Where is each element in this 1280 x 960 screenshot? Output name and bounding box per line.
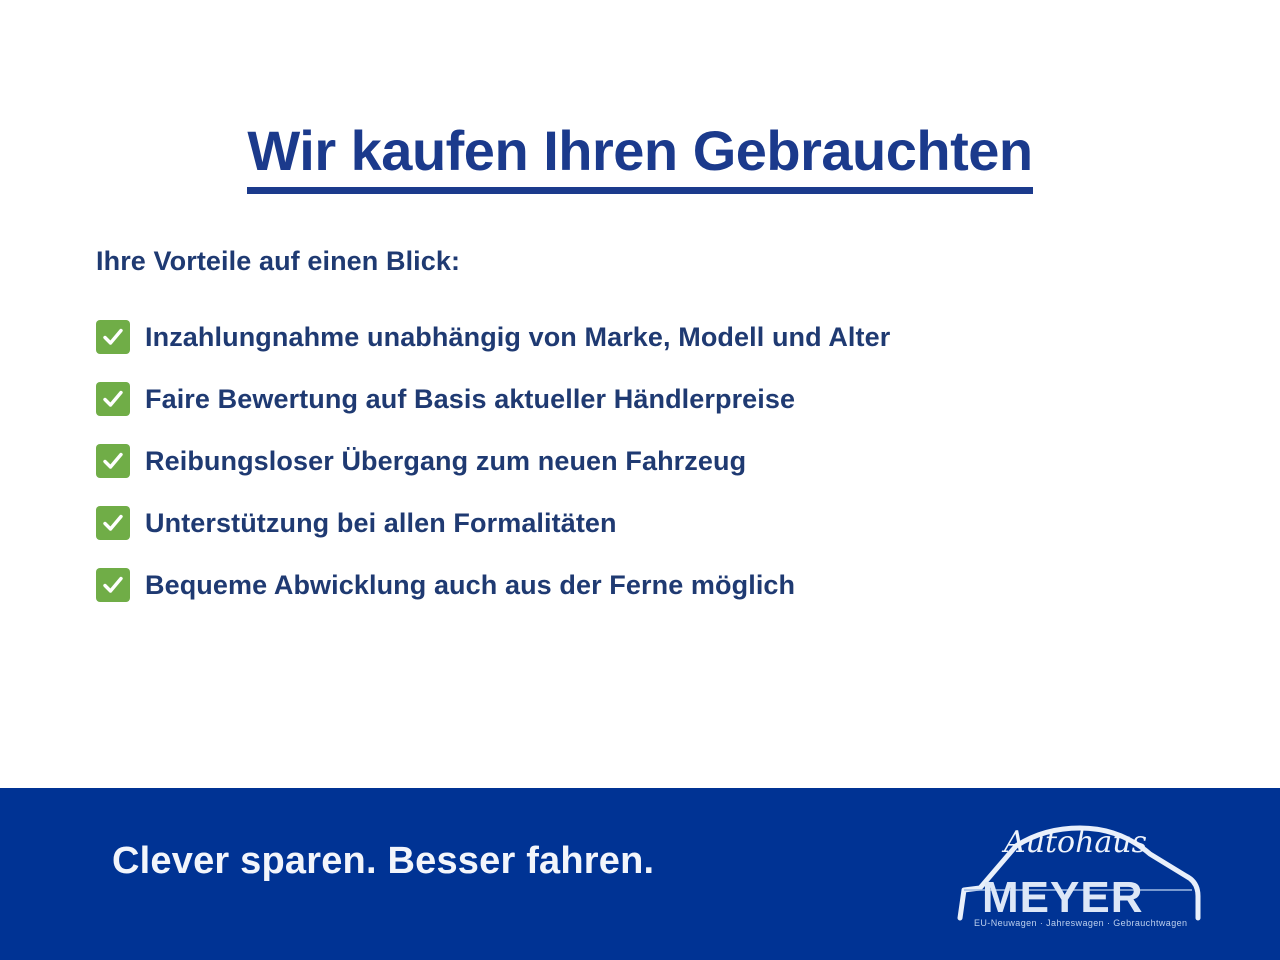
promo-flyer: Wir kaufen Ihren Gebrauchten Ihre Vortei…	[0, 0, 1280, 960]
logo-script-text: Autohaus	[1001, 825, 1147, 860]
list-item: Unterstützung bei allen Formalitäten	[96, 492, 1216, 554]
list-item: Bequeme Abwicklung auch aus der Ferne mö…	[96, 554, 1216, 616]
footer-bar: Clever sparen. Besser fahren. Autohaus M…	[0, 788, 1280, 960]
list-item: Inzahlungnahme unabhängig von Marke, Mod…	[96, 306, 1216, 368]
check-square-icon	[96, 444, 130, 478]
benefits-subtitle: Ihre Vorteile auf einen Blick:	[96, 246, 460, 277]
benefit-label: Unterstützung bei allen Formalitäten	[145, 508, 617, 539]
check-square-icon	[96, 320, 130, 354]
benefit-label: Inzahlungnahme unabhängig von Marke, Mod…	[145, 322, 890, 353]
benefit-label: Bequeme Abwicklung auch aus der Ferne mö…	[145, 570, 795, 601]
logo-tagline-text: EU-Neuwagen · Jahreswagen · Gebrauchtwag…	[974, 918, 1187, 928]
benefit-label: Faire Bewertung auf Basis aktueller Händ…	[145, 384, 795, 415]
page-title: Wir kaufen Ihren Gebrauchten	[247, 122, 1032, 195]
footer-slogan: Clever sparen. Besser fahren.	[112, 840, 654, 883]
benefit-label: Reibungsloser Übergang zum neuen Fahrzeu…	[145, 446, 746, 477]
benefits-list: Inzahlungnahme unabhängig von Marke, Mod…	[96, 306, 1216, 616]
dealership-logo: Autohaus MEYER EU-Neuwagen · Jahreswagen…	[954, 806, 1204, 934]
check-square-icon	[96, 568, 130, 602]
check-square-icon	[96, 506, 130, 540]
page-title-container: Wir kaufen Ihren Gebrauchten	[0, 84, 1280, 232]
check-square-icon	[96, 382, 130, 416]
list-item: Faire Bewertung auf Basis aktueller Händ…	[96, 368, 1216, 430]
list-item: Reibungsloser Übergang zum neuen Fahrzeu…	[96, 430, 1216, 492]
logo-name-text: MEYER	[982, 873, 1143, 922]
